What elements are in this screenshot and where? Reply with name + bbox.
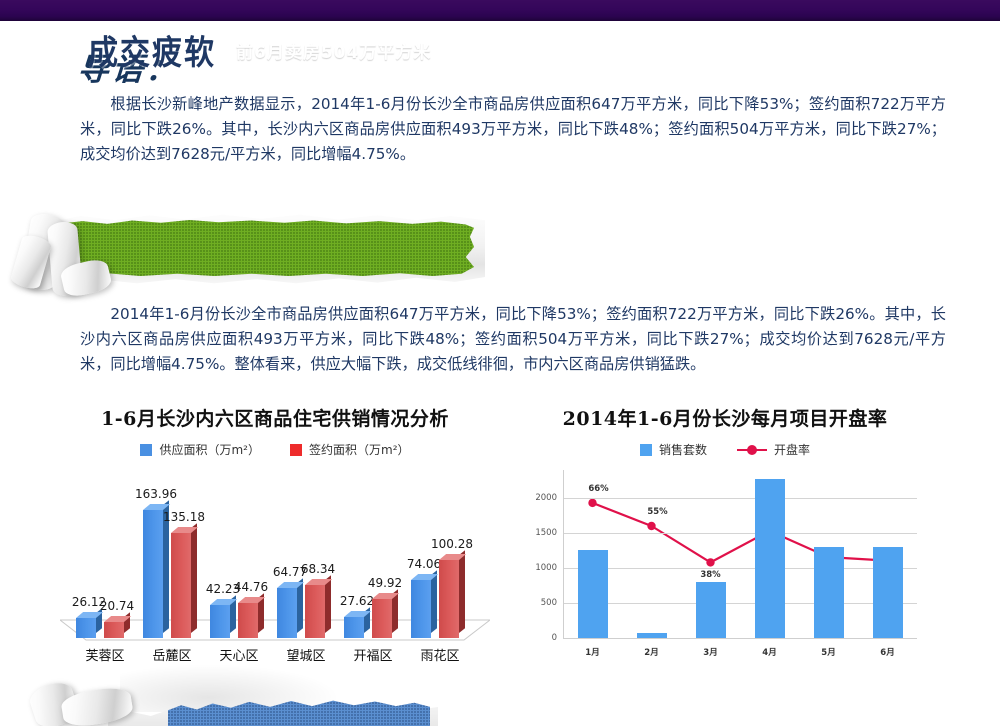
legend-label-units-sold: 销售套数 <box>659 441 707 458</box>
bar-front-face <box>238 603 258 638</box>
bar-category-label: 芙蓉区 <box>74 645 136 664</box>
bar-front-face <box>439 560 459 638</box>
bar-group: 74.06100.28 <box>411 560 473 638</box>
legend-label-supply: 供应面积（万m²） <box>159 441 260 458</box>
bar-value-label: 135.18 <box>163 510 205 524</box>
legend-item-contract: 签约面积（万m²） <box>290 441 410 458</box>
bar-category-label: 天心区 <box>208 645 270 664</box>
bar-units-sold <box>578 550 608 638</box>
bar-value-label: 44.76 <box>234 580 268 594</box>
x-axis-tick-label: 5月 <box>821 646 835 658</box>
y-axis-tick-label: 0 <box>525 633 557 643</box>
bar-value-label: 100.28 <box>431 537 473 551</box>
bar-contract: 20.74 <box>104 622 130 638</box>
bar-contract: 44.76 <box>238 603 264 638</box>
chart-monthly-launch-rate: 2014年1-6月份长沙每月项目开盘率 销售套数 开盘率 <box>525 404 925 458</box>
bar-supply: 74.06 <box>411 580 437 638</box>
bar-units-sold <box>755 479 785 638</box>
legend-swatch-icon <box>140 444 152 456</box>
chart-title-right: 2014年1-6月份长沙每月项目开盘率 <box>525 404 925 431</box>
bar-contract: 135.18 <box>171 533 197 638</box>
legend-swatch-icon <box>290 444 302 456</box>
x-axis-tick-label: 1月 <box>585 646 599 658</box>
bar-value-label: 49.92 <box>368 576 402 590</box>
line-value-label: 66% <box>588 484 608 494</box>
y-axis-tick-label: 500 <box>525 598 557 608</box>
blue-banner-fill <box>168 696 430 726</box>
bar-supply: 64.77 <box>277 588 303 638</box>
bar-group: 26.1220.74 <box>76 618 138 638</box>
bar-group: 64.7768.34 <box>277 585 339 638</box>
bar-category-label: 望城区 <box>275 645 337 664</box>
bar-group: 42.2344.76 <box>210 603 272 638</box>
bar-front-face <box>171 533 191 638</box>
x-axis-tick-label: 4月 <box>762 646 776 658</box>
x-axis-tick-label: 3月 <box>703 646 717 658</box>
bar-contract: 100.28 <box>439 560 465 638</box>
chart-legend-right: 销售套数 开盘率 <box>525 441 925 458</box>
bar-value-label: 163.96 <box>135 487 177 501</box>
gridline <box>563 533 917 534</box>
bar-front-face <box>210 605 230 638</box>
body-paragraph-text: 2014年1-6月份长沙全市商品房供应面积647万平方米，同比下降53%；签约面… <box>80 302 946 377</box>
y-axis-tick-label: 1500 <box>525 528 557 538</box>
x-axis-tick-label: 6月 <box>880 646 894 658</box>
bar-supply: 42.23 <box>210 605 236 638</box>
legend-item-supply: 供应面积（万m²） <box>140 441 260 458</box>
bar-category-label: 雨花区 <box>409 645 471 664</box>
bar-front-face <box>104 622 124 638</box>
green-banner-fill <box>62 220 474 276</box>
green-banner-subtitle: 前6月卖房504万平方米 <box>236 38 431 63</box>
gridline <box>563 568 917 569</box>
bar-group: 163.96135.18 <box>143 510 205 638</box>
bar-front-face <box>76 618 96 638</box>
bar-value-label: 68.34 <box>301 562 335 576</box>
legend-item-launch-rate: 开盘率 <box>737 441 810 458</box>
bar-category-label: 开福区 <box>342 645 404 664</box>
combo-chart-plot-area: 05001000150020001月2月3月4月5月6月66%55%38% <box>525 462 925 662</box>
bar-side-face <box>431 571 437 633</box>
bar-value-label: 74.06 <box>407 557 441 571</box>
legend-item-units-sold: 销售套数 <box>640 441 707 458</box>
chart-legend-left: 供应面积（万m²） 签约面积（万m²） <box>60 441 490 458</box>
bar-chart-plot-area: 26.1220.74芙蓉区163.96135.18岳麓区42.2344.76天心… <box>60 462 490 662</box>
intro-paragraph: 根据长沙新峰地产数据显示，2014年1-6月份长沙全市商品房供应面积647万平方… <box>80 92 946 167</box>
x-axis-tick-label: 2月 <box>644 646 658 658</box>
line-value-label: 38% <box>700 570 720 580</box>
chart-title-left: 1-6月长沙内六区商品住宅供销情况分析 <box>60 404 490 431</box>
gridline <box>563 498 917 499</box>
legend-line-marker-icon <box>737 444 767 456</box>
bar-contract: 49.92 <box>372 599 398 638</box>
bar-side-face <box>459 550 465 633</box>
chart-supply-sales-by-district: 1-6月长沙内六区商品住宅供销情况分析 供应面积（万m²） 签约面积（万m²） <box>60 404 490 458</box>
top-purple-bar <box>0 0 1000 21</box>
line-value-label: 55% <box>647 507 667 517</box>
bar-units-sold <box>814 547 844 638</box>
legend-swatch-icon <box>640 444 652 456</box>
legend-label-launch-rate: 开盘率 <box>774 441 810 458</box>
bar-supply: 26.12 <box>76 618 102 638</box>
intro-paragraph-text: 根据长沙新峰地产数据显示，2014年1-6月份长沙全市商品房供应面积647万平方… <box>80 92 946 167</box>
bar-value-label: 27.62 <box>340 594 374 608</box>
line-data-point <box>706 558 714 566</box>
bar-contract: 68.34 <box>305 585 331 638</box>
bar-front-face <box>277 588 297 638</box>
gridline <box>563 603 917 604</box>
bar-units-sold <box>873 547 903 638</box>
bar-units-sold <box>696 582 726 638</box>
bar-supply: 27.62 <box>344 617 370 638</box>
green-banner-title: 成交疲软 <box>88 25 216 74</box>
line-data-point <box>647 522 655 530</box>
bar-front-face <box>372 599 392 638</box>
bar-front-face <box>143 510 163 638</box>
bar-front-face <box>344 617 364 638</box>
bar-front-face <box>411 580 431 638</box>
bar-value-label: 20.74 <box>100 599 134 613</box>
x-axis-line <box>563 638 917 639</box>
y-axis-tick-label: 1000 <box>525 563 557 573</box>
y-axis-line <box>563 470 564 638</box>
bar-supply: 163.96 <box>143 510 169 638</box>
bar-front-face <box>305 585 325 638</box>
bar-group: 27.6249.92 <box>344 599 406 638</box>
bar-side-face <box>191 523 197 633</box>
line-data-point <box>588 499 596 507</box>
legend-label-contract: 签约面积（万m²） <box>309 441 410 458</box>
y-axis-tick-label: 2000 <box>525 493 557 503</box>
page-root: 导语： 根据长沙新峰地产数据显示，2014年1-6月份长沙全市商品房供应面积64… <box>0 0 1000 726</box>
body-paragraph: 2014年1-6月份长沙全市商品房供应面积647万平方米，同比下降53%；签约面… <box>80 302 946 377</box>
bar-category-label: 岳麓区 <box>141 645 203 664</box>
